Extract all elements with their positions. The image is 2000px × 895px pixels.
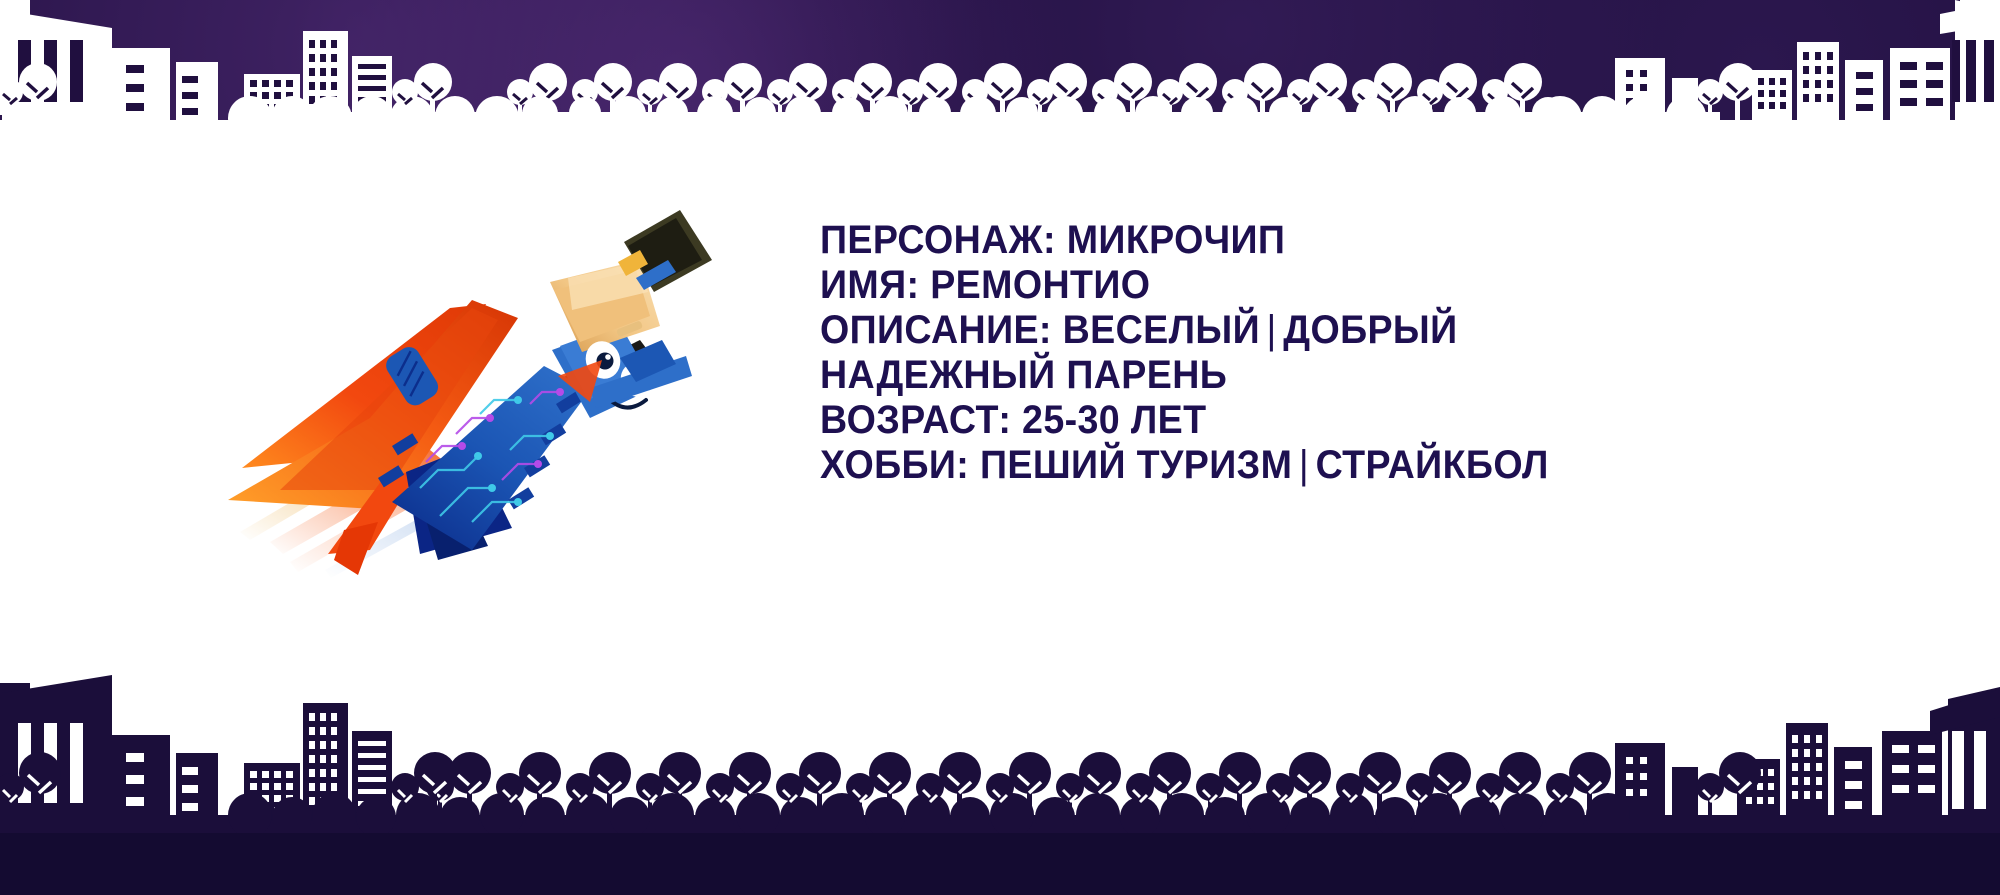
character-info-block: ПЕРСОНАЖ: МИКРОЧИП ИМЯ: РЕМОНТИО ОПИСАНИ… xyxy=(820,218,1980,488)
description-separator: | xyxy=(1260,308,1283,352)
tree-row-bottom xyxy=(0,752,1761,821)
hobby-value: СТРАЙКБОЛ xyxy=(1316,443,1549,487)
info-line-description: ОПИСАНИЕ: ВЕСЕЛЫЙ|ДОБРЫЙ xyxy=(820,308,1910,353)
bottom-base-bar xyxy=(0,825,2000,895)
superhero-illustration xyxy=(120,150,760,580)
top-skyline-band xyxy=(0,0,2000,120)
hobby-label: ХОББИ: ПЕШИЙ ТУРИЗМ xyxy=(820,443,1292,487)
city-skyline-top xyxy=(0,0,2000,120)
info-line-hobby: ХОББИ: ПЕШИЙ ТУРИЗМ|СТРАЙКБОЛ xyxy=(820,443,1910,488)
info-line-age: ВОЗРАСТ: 25-30 ЛЕТ xyxy=(820,398,1910,443)
city-skyline-bottom xyxy=(0,565,2000,833)
info-line-description-cont: НАДЕЖНЫЙ ПАРЕНЬ xyxy=(820,353,1910,398)
info-line-character: ПЕРСОНАЖ: МИКРОЧИП xyxy=(820,218,1910,263)
microchip-superhero xyxy=(120,150,760,570)
hobby-separator: | xyxy=(1292,443,1315,487)
description-value: ДОБРЫЙ xyxy=(1283,308,1457,352)
info-line-name: ИМЯ: РЕМОНТИО xyxy=(820,263,1910,308)
description-label: ОПИСАНИЕ: ВЕСЕЛЫЙ xyxy=(820,308,1260,352)
bottom-skyline-band xyxy=(0,565,2000,895)
ground-bumps-bottom xyxy=(0,793,2000,833)
character-banner: ПЕРСОНАЖ: МИКРОЧИП ИМЯ: РЕМОНТИО ОПИСАНИ… xyxy=(0,0,2000,895)
